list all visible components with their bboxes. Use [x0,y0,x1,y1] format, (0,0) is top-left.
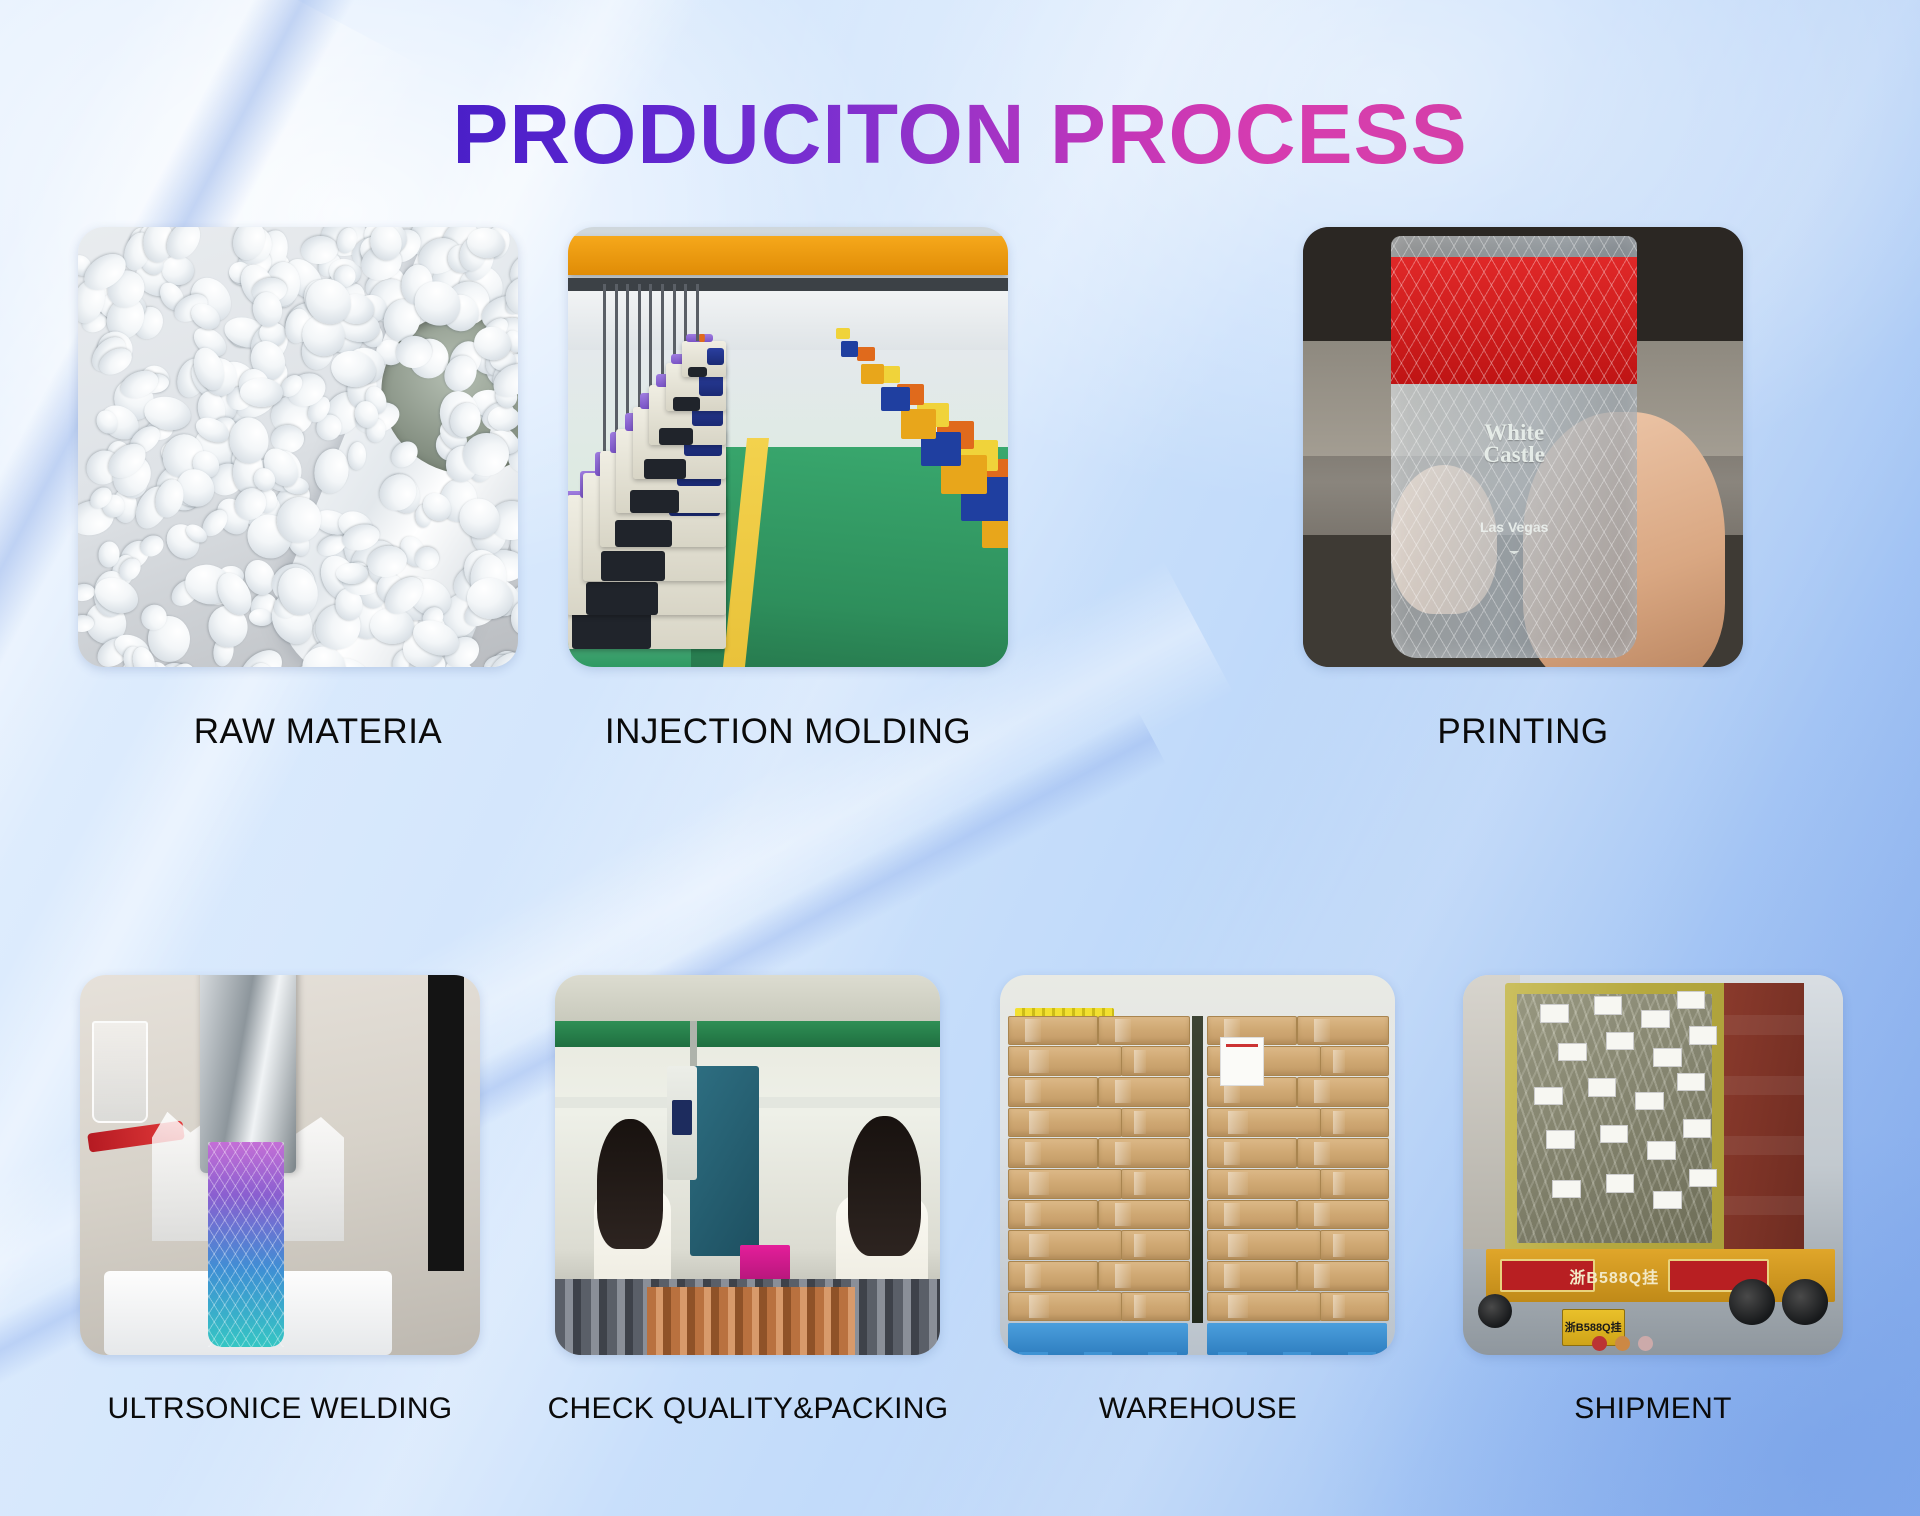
logo-line-1: White [1461,422,1567,445]
step-label-printing: PRINTING [1437,712,1608,752]
blue-pallet [1008,1323,1188,1355]
pellet-field [78,227,518,667]
shipping-label [1220,1037,1264,1086]
step-card-raw-materia[interactable] [78,227,518,667]
image-quality-check-packing-line [555,975,940,1355]
tail-light [1592,1336,1607,1351]
logo-line-2: Castle [1461,444,1567,467]
tail-light [1638,1336,1653,1351]
image-injection-molding-factory-floor [568,227,1008,667]
step-card-check-quality-packing[interactable] [555,975,940,1355]
clear-cup-sample [92,1021,148,1124]
step-label-check-quality-packing: CHECK QUALITY&PACKING [548,1392,949,1426]
wheel [1729,1279,1775,1325]
step-card-shipment[interactable]: 浙B588Q挂 浙B588Q挂 [1463,975,1843,1355]
worker-hair [848,1116,921,1257]
truck-plate-text: 浙B588Q挂 [1569,1264,1659,1288]
step-label-raw-materia: RAW MATERIA [194,712,443,752]
blue-pallet [1207,1323,1387,1355]
worker-hair [597,1119,662,1248]
step-label-warehouse: WAREHOUSE [1099,1392,1297,1426]
shipping-container [1505,983,1801,1257]
pink-cup-stack [740,1245,790,1283]
logo-subtitle: Las Vegas [1480,519,1549,535]
step-label-injection-molding: INJECTION MOLDING [605,712,971,752]
product-tray-copper [647,1287,855,1355]
gradient-tumbler [208,1142,284,1347]
step-card-injection-molding[interactable] [568,227,1008,667]
page-title: PRODUCITON PROCESS [0,92,1920,176]
image-warehouse-stacked-cartons [1000,975,1395,1355]
image-printed-tumbler-cup: White Castle Las Vegas [1303,227,1743,667]
welding-press-machine [690,1066,759,1256]
white-castle-logo: White Castle [1461,422,1567,467]
molding-machines [568,227,1008,667]
green-beam [555,1021,940,1048]
step-label-shipment: SHIPMENT [1574,1392,1731,1426]
image-shipment-loaded-truck-container: 浙B588Q挂 浙B588Q挂 [1463,975,1843,1355]
image-raw-material-plastic-pellets [78,227,518,667]
wheel [1782,1279,1828,1325]
stack-gap-shadow [1192,1016,1203,1323]
step-card-printing[interactable]: White Castle Las Vegas [1303,227,1743,667]
container-door [1724,983,1804,1257]
wheel [1478,1294,1512,1328]
machine-dark-column [428,975,464,1271]
poster-canvas: PRODUCITON PROCESS RAW MATERIA INJECTION… [0,0,1920,1516]
page-title-text: PRODUCITON PROCESS [452,92,1467,176]
tumbler-cup: White Castle Las Vegas [1391,236,1637,658]
image-ultrasonic-welding-machine [80,975,480,1355]
step-card-warehouse[interactable] [1000,975,1395,1355]
machine-display-screen [672,1100,691,1134]
tail-light [1615,1336,1630,1351]
carton-stack-left [1008,1016,1188,1323]
ceiling-panel [555,975,940,1024]
step-card-ultrsonice-welding[interactable] [80,975,480,1355]
step-label-ultrsonice-welding: ULTRSONICE WELDING [108,1392,453,1426]
pallet-area [1008,994,1387,1355]
